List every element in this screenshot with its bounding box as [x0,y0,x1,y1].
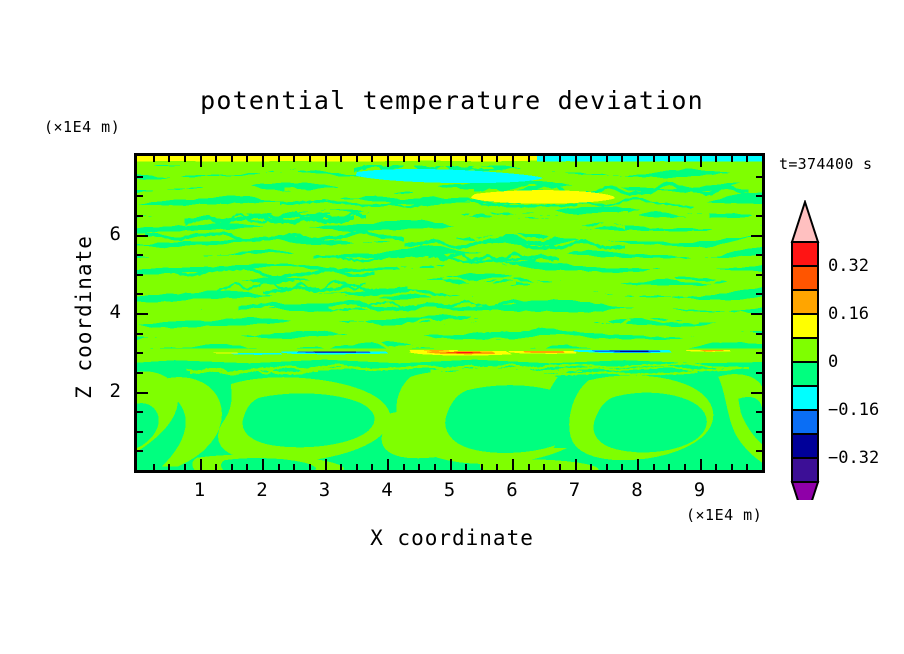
x-axis-title: X coordinate [0,526,904,550]
x-axis-tick-label: 7 [560,479,590,501]
colorbar-band [792,266,818,290]
x-axis-major-tick-top [450,156,452,167]
y-axis-minor-tick-right [756,372,762,374]
y-axis-minor-tick [137,274,143,276]
x-axis-minor-tick-top [293,156,295,162]
x-axis-minor-tick [340,464,342,470]
x-axis-minor-tick [731,464,733,470]
x-axis-major-tick [575,459,577,470]
x-axis-minor-tick [184,464,186,470]
colorbar-band [792,314,818,338]
x-axis-tick-label: 6 [497,479,527,501]
x-axis-major-tick-top [700,156,702,167]
y-axis-minor-tick-right [756,215,762,217]
x-axis-minor-tick-top [418,156,420,162]
colorbar-band [792,434,818,458]
colorbar [786,200,830,500]
colorbar-upper-arrow [792,202,818,242]
x-axis-minor-tick [356,464,358,470]
y-axis-minor-tick [137,333,143,335]
x-axis-tick-label: 2 [247,479,277,501]
y-axis-minor-tick-right [756,254,762,256]
x-axis-minor-tick [668,464,670,470]
x-axis-minor-tick-top [215,156,217,162]
x-axis-minor-tick [168,464,170,470]
y-axis-minor-tick-right [756,176,762,178]
x-axis-minor-tick-top [653,156,655,162]
x-axis-minor-tick-top [309,156,311,162]
x-axis-minor-tick [684,464,686,470]
contour-plot-area [134,153,765,473]
x-axis-minor-tick [528,464,530,470]
x-axis-minor-tick [371,464,373,470]
colorbar-band [792,242,818,266]
x-axis-minor-tick-top [403,156,405,162]
x-axis-minor-tick-top [481,156,483,162]
x-axis-minor-tick-top [371,156,373,162]
y-axis-minor-tick-right [756,274,762,276]
time-annotation: t=374400 s [779,155,872,173]
x-axis-major-tick-top [200,156,202,167]
x-axis-major-tick-top [512,156,514,167]
x-axis-minor-tick [715,464,717,470]
colorbar-band [792,362,818,386]
x-axis-minor-tick-top [153,156,155,162]
x-axis-major-tick [637,459,639,470]
x-axis-tick-label: 1 [185,479,215,501]
y-axis-minor-tick [137,450,143,452]
y-axis-minor-tick-right [756,450,762,452]
x-axis-minor-tick [559,464,561,470]
x-axis-minor-tick-top [496,156,498,162]
x-axis-minor-tick [153,464,155,470]
x-axis-tick-label: 3 [310,479,340,501]
y-axis-minor-tick [137,411,143,413]
x-axis-major-tick-top [387,156,389,167]
x-axis-minor-tick-top [184,156,186,162]
x-axis-major-tick [512,459,514,470]
colorbar-band [792,458,818,482]
y-axis-minor-tick-right [756,333,762,335]
x-axis-minor-tick-top [606,156,608,162]
y-axis-minor-tick [137,176,143,178]
x-axis-major-tick [450,459,452,470]
x-axis-major-tick [262,459,264,470]
x-axis-minor-tick-top [231,156,233,162]
x-axis-tick-label: 4 [372,479,402,501]
colorbar-lower-arrow [792,482,818,500]
x-axis-major-tick-top [637,156,639,167]
y-axis-minor-tick [137,195,143,197]
x-axis-minor-tick-top [543,156,545,162]
x-axis-minor-tick-top [684,156,686,162]
x-axis-minor-tick-top [278,156,280,162]
x-axis-major-tick [387,459,389,470]
x-axis-tick-label: 8 [622,479,652,501]
y-axis-major-tick-right [751,313,762,315]
x-axis-minor-tick-top [559,156,561,162]
x-axis-minor-tick-top [746,156,748,162]
x-axis-major-tick [700,459,702,470]
y-axis-unit-label: (×1E4 m) [44,118,120,136]
x-axis-minor-tick [215,464,217,470]
x-axis-minor-tick [746,464,748,470]
y-axis-minor-tick-right [756,352,762,354]
x-axis-minor-tick-top [528,156,530,162]
x-axis-minor-tick-top [715,156,717,162]
colorbar-tick-label: 0.32 [828,256,869,276]
x-axis-minor-tick-top [246,156,248,162]
page-title: potential temperature deviation [0,86,904,115]
y-axis-minor-tick-right [756,293,762,295]
x-axis-major-tick [325,459,327,470]
x-axis-unit-label: (×1E4 m) [686,506,762,524]
x-axis-minor-tick [496,464,498,470]
x-axis-minor-tick [293,464,295,470]
x-axis-minor-tick [481,464,483,470]
x-axis-minor-tick [543,464,545,470]
x-axis-minor-tick-top [168,156,170,162]
x-axis-minor-tick [465,464,467,470]
x-axis-major-tick [200,459,202,470]
colorbar-band [792,410,818,434]
x-axis-minor-tick-top [434,156,436,162]
x-axis-minor-tick [590,464,592,470]
y-axis-major-tick [137,313,148,315]
x-axis-major-tick-top [262,156,264,167]
y-axis-minor-tick [137,352,143,354]
colorbar-tick-label: −0.16 [828,400,879,420]
y-axis-title: Z coordinate [72,217,96,417]
y-axis-major-tick-right [751,235,762,237]
y-axis-minor-tick [137,254,143,256]
x-axis-minor-tick [418,464,420,470]
contour-field [137,156,762,470]
x-axis-minor-tick [278,464,280,470]
x-axis-minor-tick [231,464,233,470]
x-axis-minor-tick-top [340,156,342,162]
y-axis-minor-tick [137,293,143,295]
y-axis-major-tick [137,235,148,237]
y-axis-tick-label: 6 [99,223,121,245]
y-axis-minor-tick [137,372,143,374]
x-axis-minor-tick-top [356,156,358,162]
y-axis-major-tick-right [751,392,762,394]
x-axis-minor-tick [309,464,311,470]
x-axis-minor-tick [606,464,608,470]
x-axis-minor-tick [434,464,436,470]
y-axis-major-tick [137,392,148,394]
y-axis-minor-tick [137,431,143,433]
colorbar-tick-label: −0.32 [828,448,879,468]
x-axis-minor-tick-top [465,156,467,162]
y-axis-minor-tick [137,215,143,217]
x-axis-minor-tick-top [668,156,670,162]
x-axis-major-tick-top [325,156,327,167]
x-axis-tick-label: 9 [685,479,715,501]
y-axis-tick-label: 4 [99,301,121,323]
x-axis-minor-tick-top [731,156,733,162]
x-axis-minor-tick [653,464,655,470]
x-axis-minor-tick [621,464,623,470]
x-axis-minor-tick [246,464,248,470]
x-axis-minor-tick-top [590,156,592,162]
x-axis-minor-tick-top [621,156,623,162]
y-axis-minor-tick-right [756,411,762,413]
colorbar-band [792,386,818,410]
colorbar-band [792,338,818,362]
colorbar-tick-label: 0 [828,352,838,372]
x-axis-major-tick-top [575,156,577,167]
y-axis-tick-label: 2 [99,380,121,402]
colorbar-tick-label: 0.16 [828,304,869,324]
y-axis-minor-tick-right [756,431,762,433]
x-axis-minor-tick [403,464,405,470]
x-axis-tick-label: 5 [435,479,465,501]
colorbar-band [792,290,818,314]
y-axis-minor-tick-right [756,195,762,197]
